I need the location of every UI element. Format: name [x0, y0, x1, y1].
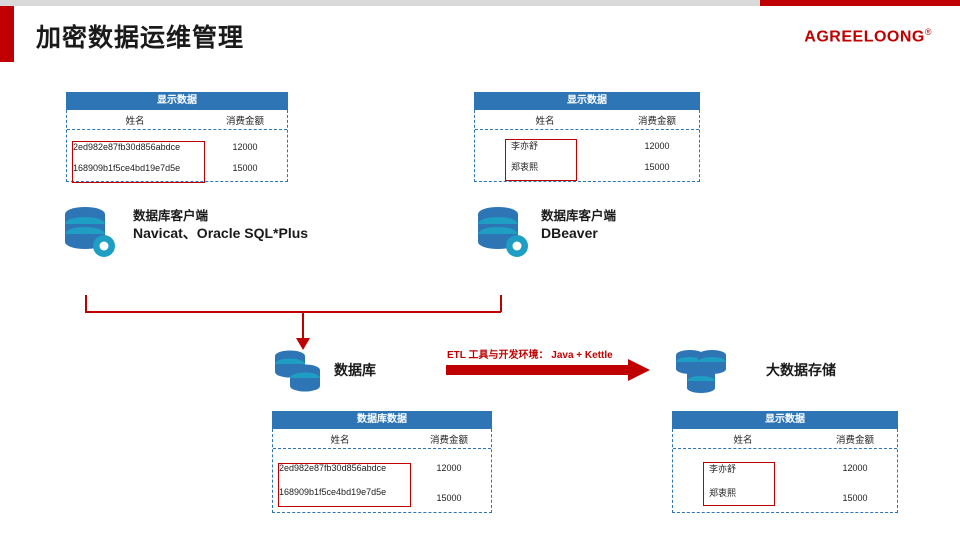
bigdata-storage-label: 大数据存储 — [766, 362, 836, 379]
database-client-left-icon — [60, 204, 120, 265]
table-title-top-left: 显示数据 — [66, 92, 288, 110]
cell-amount: 12000 — [407, 463, 491, 473]
plain-name-highlight — [505, 139, 577, 181]
cell-amount: 15000 — [407, 481, 491, 503]
etl-arrow-head — [628, 359, 650, 381]
encrypted-name-highlight — [278, 463, 411, 507]
cell-amount: 12000 — [203, 142, 287, 152]
table-title-top-right: 显示数据 — [474, 92, 700, 110]
database-icon — [270, 348, 326, 399]
page-title: 加密数据运维管理 — [36, 18, 244, 54]
column-header-name: 姓名 — [475, 113, 615, 127]
connector-right-down — [500, 295, 502, 312]
table-header-row: 姓名 消费金额 — [273, 429, 491, 449]
client-right-line2: DBeaver — [541, 225, 616, 242]
table-title-bottom-right: 显示数据 — [672, 411, 898, 429]
brand-logo: AGREELOONG® — [804, 27, 932, 46]
column-header-amount: 消费金额 — [407, 432, 491, 446]
column-header-amount: 消费金额 — [615, 113, 699, 127]
column-header-name: 姓名 — [273, 432, 407, 446]
database-label: 数据库 — [334, 362, 376, 379]
column-header-name: 姓名 — [67, 113, 203, 127]
table-card-bottom-left: 数据库数据 姓名 消费金额 2ed982e87fb30d856abdce 120… — [272, 411, 492, 513]
connector-horizontal — [85, 311, 501, 313]
database-client-left-label: 数据库客户端 Navicat、Oracle SQL*Plus — [133, 208, 308, 242]
encrypted-name-highlight — [72, 141, 205, 183]
table-header-row: 姓名 消费金额 — [673, 429, 897, 449]
brand-registered-mark: ® — [925, 27, 932, 37]
cell-amount: 15000 — [203, 163, 287, 173]
column-header-amount: 消费金额 — [203, 113, 287, 127]
connector-left-down — [85, 295, 87, 312]
connector-to-database — [302, 311, 304, 341]
etl-label: ETL 工具与开发环境： Java + Kettle — [447, 346, 613, 361]
cell-amount: 15000 — [615, 162, 699, 172]
database-client-right-label: 数据库客户端 DBeaver — [541, 208, 616, 242]
top-bar-accent — [760, 0, 960, 6]
cell-amount: 12000 — [813, 463, 897, 473]
column-header-amount: 消费金额 — [813, 432, 897, 446]
etl-arrow-shaft — [446, 365, 630, 375]
client-right-line1: 数据库客户端 — [541, 208, 616, 225]
brand-name: AGREELOONG — [804, 28, 925, 45]
plain-name-highlight — [703, 462, 775, 506]
table-card-top-right: 显示数据 姓名 消费金额 李亦舒 12000 郑衷熙 15000 — [474, 92, 700, 182]
table-card-bottom-right: 显示数据 姓名 消费金额 李亦舒 12000 郑衷熙 15000 — [672, 411, 898, 513]
table-header-row: 姓名 消费金额 — [67, 110, 287, 130]
client-left-line2: Navicat、Oracle SQL*Plus — [133, 225, 308, 242]
client-left-line1: 数据库客户端 — [133, 208, 308, 225]
cell-amount: 12000 — [615, 141, 699, 151]
table-card-top-left: 显示数据 姓名 消费金额 2ed982e87fb30d856abdce 1200… — [66, 92, 288, 182]
table-title-bottom-left: 数据库数据 — [272, 411, 492, 429]
column-header-name: 姓名 — [673, 432, 813, 446]
bigdata-storage-icon — [672, 348, 732, 399]
title-accent-bar — [0, 6, 14, 62]
cell-amount: 15000 — [813, 481, 897, 503]
database-client-right-icon — [473, 204, 533, 265]
table-header-row: 姓名 消费金额 — [475, 110, 699, 130]
